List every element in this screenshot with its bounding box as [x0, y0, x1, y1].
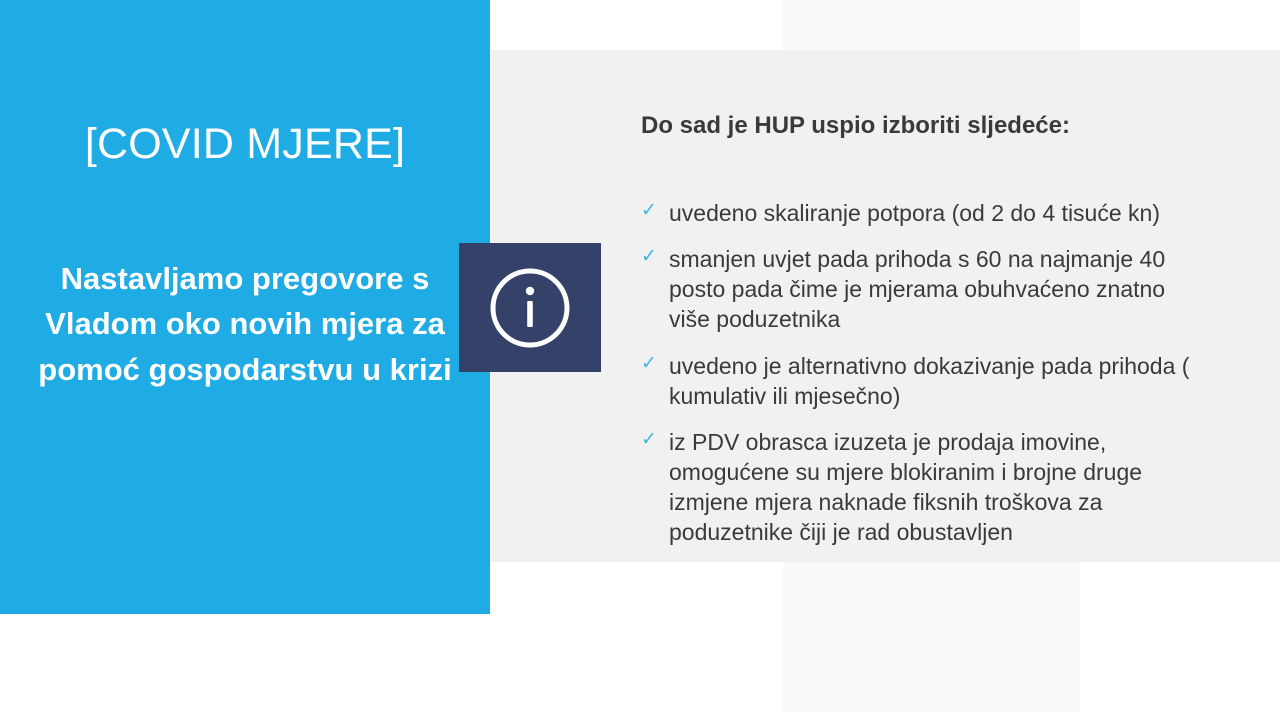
check-icon: ✓ [641, 430, 660, 449]
page-title: [COVID MJERE] [28, 122, 462, 167]
check-icon: ✓ [641, 247, 660, 266]
list-item: ✓ uvedeno skaliranje potpora (od 2 do 4 … [641, 198, 1201, 228]
list-item: ✓ uvedeno je alternativno dokazivanje pa… [641, 351, 1201, 411]
achievements-list: ✓ uvedeno skaliranje potpora (od 2 do 4 … [641, 198, 1201, 547]
slide-canvas: [COVID MJERE] Nastavljamo pregovore s Vl… [0, 0, 1280, 720]
list-item-text: uvedeno je alternativno dokazivanje pada… [669, 351, 1201, 411]
info-badge [459, 243, 601, 372]
check-icon: ✓ [641, 201, 660, 220]
list-item: ✓ iz PDV obrasca izuzeta je prodaja imov… [641, 427, 1201, 548]
page-subtitle: Nastavljamo pregovore s Vladom oko novih… [28, 256, 462, 392]
content-heading: Do sad je HUP uspio izboriti sljedeće: [641, 112, 1241, 141]
info-circle-icon [486, 264, 574, 352]
list-item-text: uvedeno skaliranje potpora (od 2 do 4 ti… [669, 198, 1201, 228]
list-item-text: iz PDV obrasca izuzeta je prodaja imovin… [669, 427, 1201, 548]
list-item: ✓ smanjen uvjet pada prihoda s 60 na naj… [641, 244, 1201, 334]
list-item-text: smanjen uvjet pada prihoda s 60 na najma… [669, 244, 1201, 334]
check-icon: ✓ [641, 354, 660, 373]
